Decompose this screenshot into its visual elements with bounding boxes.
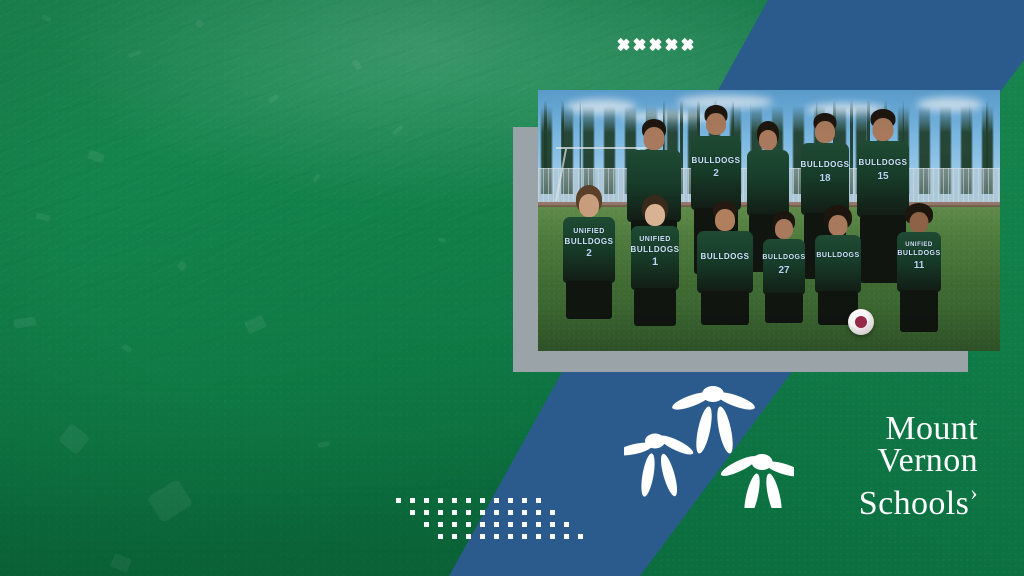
chevron-right-icon: [650, 30, 664, 58]
player-jersey: [697, 231, 753, 293]
jersey-team-text: BULLDOGS: [801, 160, 850, 169]
jersey-team-text: BULLDOGS: [631, 245, 680, 254]
jersey-team-text: BULLDOGS: [816, 252, 859, 259]
logo-line-3: Schools›: [859, 477, 978, 520]
logo-tick-icon: ›: [970, 480, 978, 505]
player-jersey: [815, 235, 861, 293]
three-figures-mark: [624, 383, 794, 508]
player-front-5: BULLDOGS: [814, 208, 862, 326]
jersey-number: 27: [778, 265, 789, 276]
mount-vernon-schools-logo[interactable]: Mount Vernon Schools›: [624, 383, 984, 523]
player-head: [815, 121, 835, 143]
team-photo: BULLDOGS 2 BULLDOGS 18 BULLDOGS 15: [538, 90, 1000, 351]
player-head: [706, 113, 726, 135]
jersey-team-text: UNIFIED: [573, 228, 605, 235]
jersey-number: 11: [914, 260, 925, 271]
soccer-ball: [848, 309, 874, 335]
player-head: [775, 219, 793, 239]
player-front-2: UNIFIED BULLDOGS 1: [630, 198, 680, 326]
jersey-number: 18: [819, 173, 830, 184]
chevron-right-icon: [682, 30, 696, 58]
player-legs: [566, 281, 612, 319]
dot-grid-row: [396, 498, 550, 503]
slide-canvas: BULLDOGS 2 BULLDOGS 18 BULLDOGS 15: [0, 0, 1024, 576]
dot-grid-row: [424, 522, 578, 527]
player-head: [715, 209, 735, 231]
chevron-right-icon: [666, 30, 680, 58]
jersey-team-text: BULLDOGS: [701, 252, 750, 261]
player-front-6: UNIFIED BULLDOGS 11: [896, 206, 942, 334]
player-head: [644, 127, 665, 150]
jersey-number: 2: [586, 248, 592, 259]
jersey-number: 15: [877, 171, 888, 182]
jersey-team-text: UNIFIED: [905, 242, 933, 248]
player-head: [910, 212, 929, 233]
player-front-3: BULLDOGS: [696, 204, 754, 326]
player-head: [759, 130, 777, 150]
jersey-number: 2: [713, 168, 719, 179]
player-head: [645, 204, 665, 226]
dot-grid-row: [410, 510, 564, 515]
jersey-number: 1: [652, 256, 658, 268]
player-head: [579, 194, 599, 217]
player-head: [873, 118, 894, 141]
player-legs: [765, 293, 803, 323]
player-legs: [634, 288, 676, 326]
jersey-team-text: BULLDOGS: [762, 254, 805, 261]
jersey-team-text: BULLDOGS: [692, 156, 741, 165]
player-front-4: BULLDOGS 27: [762, 214, 806, 324]
player-legs: [900, 290, 938, 332]
jersey-team-text: BULLDOGS: [859, 158, 908, 167]
logo-wordmark: Mount Vernon Schools›: [859, 413, 978, 520]
jersey-team-text: UNIFIED: [639, 236, 671, 243]
player-legs: [701, 291, 749, 325]
jersey-team-text: BULLDOGS: [565, 237, 614, 246]
logo-line-1: Mount: [859, 413, 978, 445]
player-front-1: UNIFIED BULLDOGS 2: [562, 188, 616, 320]
chevron-right-icon: [634, 30, 648, 58]
chevron-right-icon: [618, 30, 632, 58]
player-head: [829, 215, 848, 236]
jersey-team-text: BULLDOGS: [897, 250, 940, 257]
dot-grid-row: [438, 534, 592, 539]
logo-line-2: Vernon: [859, 445, 978, 477]
chevron-group: [618, 30, 696, 58]
